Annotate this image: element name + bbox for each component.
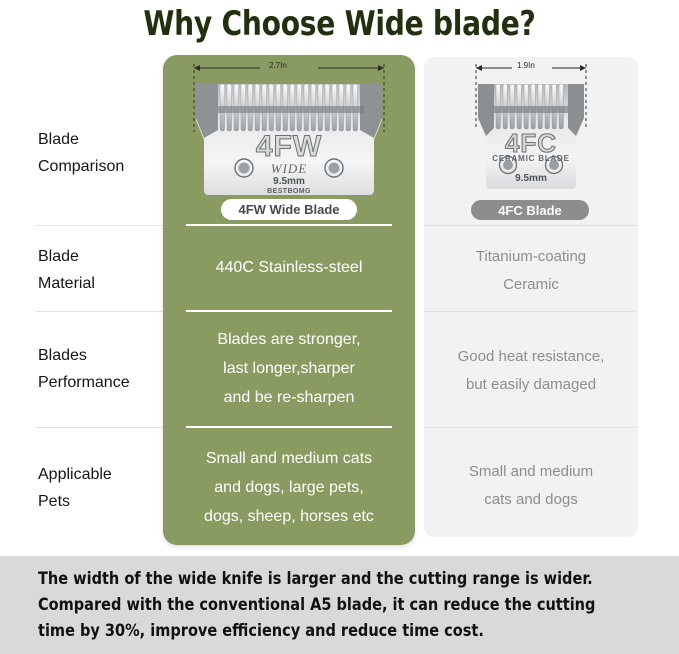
row-label-line-1: Blades [38, 342, 160, 369]
cell-gray-blade-material: Titanium-coating Ceramic [428, 243, 634, 299]
blade-image-4fw: 2.7In 4FW WIDE 9.5mm BESTBOMG [178, 62, 400, 197]
row-label-applicable-pets: Applicable Pets [38, 461, 160, 515]
row-label-blade-material: Blade Material [38, 243, 160, 297]
row-label-line-1: Applicable [38, 461, 160, 488]
cell-line: but easily damaged [428, 371, 634, 399]
row-label-line-1: Blade [38, 243, 160, 270]
cell-line: Small and medium [428, 458, 634, 486]
row-label-line-2: Pets [38, 488, 160, 515]
cell-green-blades-performance: Blades are stronger, last longer,sharper… [170, 325, 408, 412]
page-title: Why Choose Wide blade? [27, 0, 652, 48]
cell-line: and dogs, large pets, [170, 473, 408, 502]
row-label-line-1: Blade [38, 126, 160, 153]
cell-line: Titanium-coating [428, 243, 634, 271]
blade-left-size: 9.5mm [178, 176, 400, 187]
row-divider-2-left [36, 311, 163, 312]
blade-image-4fc: 1.9In 4FC CERAMIC BLADE 9.5mm [464, 62, 598, 195]
blade-right-dimension-label: 1.9In [514, 61, 538, 70]
row-label-line-2: Performance [38, 369, 160, 396]
cell-line: cats and dogs [428, 486, 634, 514]
row-divider-1-left [36, 225, 163, 226]
blade-left-dimension-label: 2.7In [266, 61, 290, 70]
cell-line: and be re-sharpen [170, 383, 408, 412]
footer-text: The width of the wide knife is larger an… [38, 566, 618, 644]
footer-line-3: time by 30%, improve efficiency and redu… [38, 618, 618, 644]
blade-left-model: 4FW [178, 130, 400, 164]
row-divider-2-green [186, 310, 392, 312]
cell-green-blade-material: 440C Stainless-steel [170, 253, 408, 282]
cell-line: Good heat resistance, [428, 343, 634, 371]
footer-line-2: Compared with the conventional A5 blade,… [38, 592, 618, 618]
blade-left-brand: BESTBOMG [178, 188, 400, 195]
row-divider-2-right [424, 311, 638, 312]
blade-right-subtitle: CERAMIC BLADE [464, 154, 598, 163]
row-divider-1-green [186, 224, 392, 226]
row-label-blade-comparison: Blade Comparison [38, 126, 160, 180]
row-divider-3-right [424, 427, 638, 428]
footer-band: The width of the wide knife is larger an… [0, 556, 679, 654]
row-divider-3-green [186, 426, 392, 428]
cell-line: dogs, sheep, horses etc [170, 502, 408, 531]
footer-line-1: The width of the wide knife is larger an… [38, 566, 618, 592]
blade-left-pill-label: 4FW Wide Blade [221, 199, 357, 220]
row-divider-3-left [36, 427, 163, 428]
cell-line: 440C Stainless-steel [170, 253, 408, 282]
cell-green-applicable-pets: Small and medium cats and dogs, large pe… [170, 444, 408, 531]
row-divider-1-right [424, 225, 638, 226]
cell-line: Small and medium cats [170, 444, 408, 473]
row-label-blades-performance: Blades Performance [38, 342, 160, 396]
blade-right-pill-label: 4FC Blade [471, 200, 589, 220]
cell-gray-applicable-pets: Small and medium cats and dogs [428, 458, 634, 514]
blade-left-subtitle: WIDE [178, 161, 400, 177]
cell-line: Blades are stronger, [170, 325, 408, 354]
cell-line: Ceramic [428, 271, 634, 299]
cell-gray-blades-performance: Good heat resistance, but easily damaged [428, 343, 634, 399]
row-label-line-2: Material [38, 270, 160, 297]
blade-right-size: 9.5mm [464, 173, 598, 184]
cell-line: last longer,sharper [170, 354, 408, 383]
row-label-line-2: Comparison [38, 153, 160, 180]
